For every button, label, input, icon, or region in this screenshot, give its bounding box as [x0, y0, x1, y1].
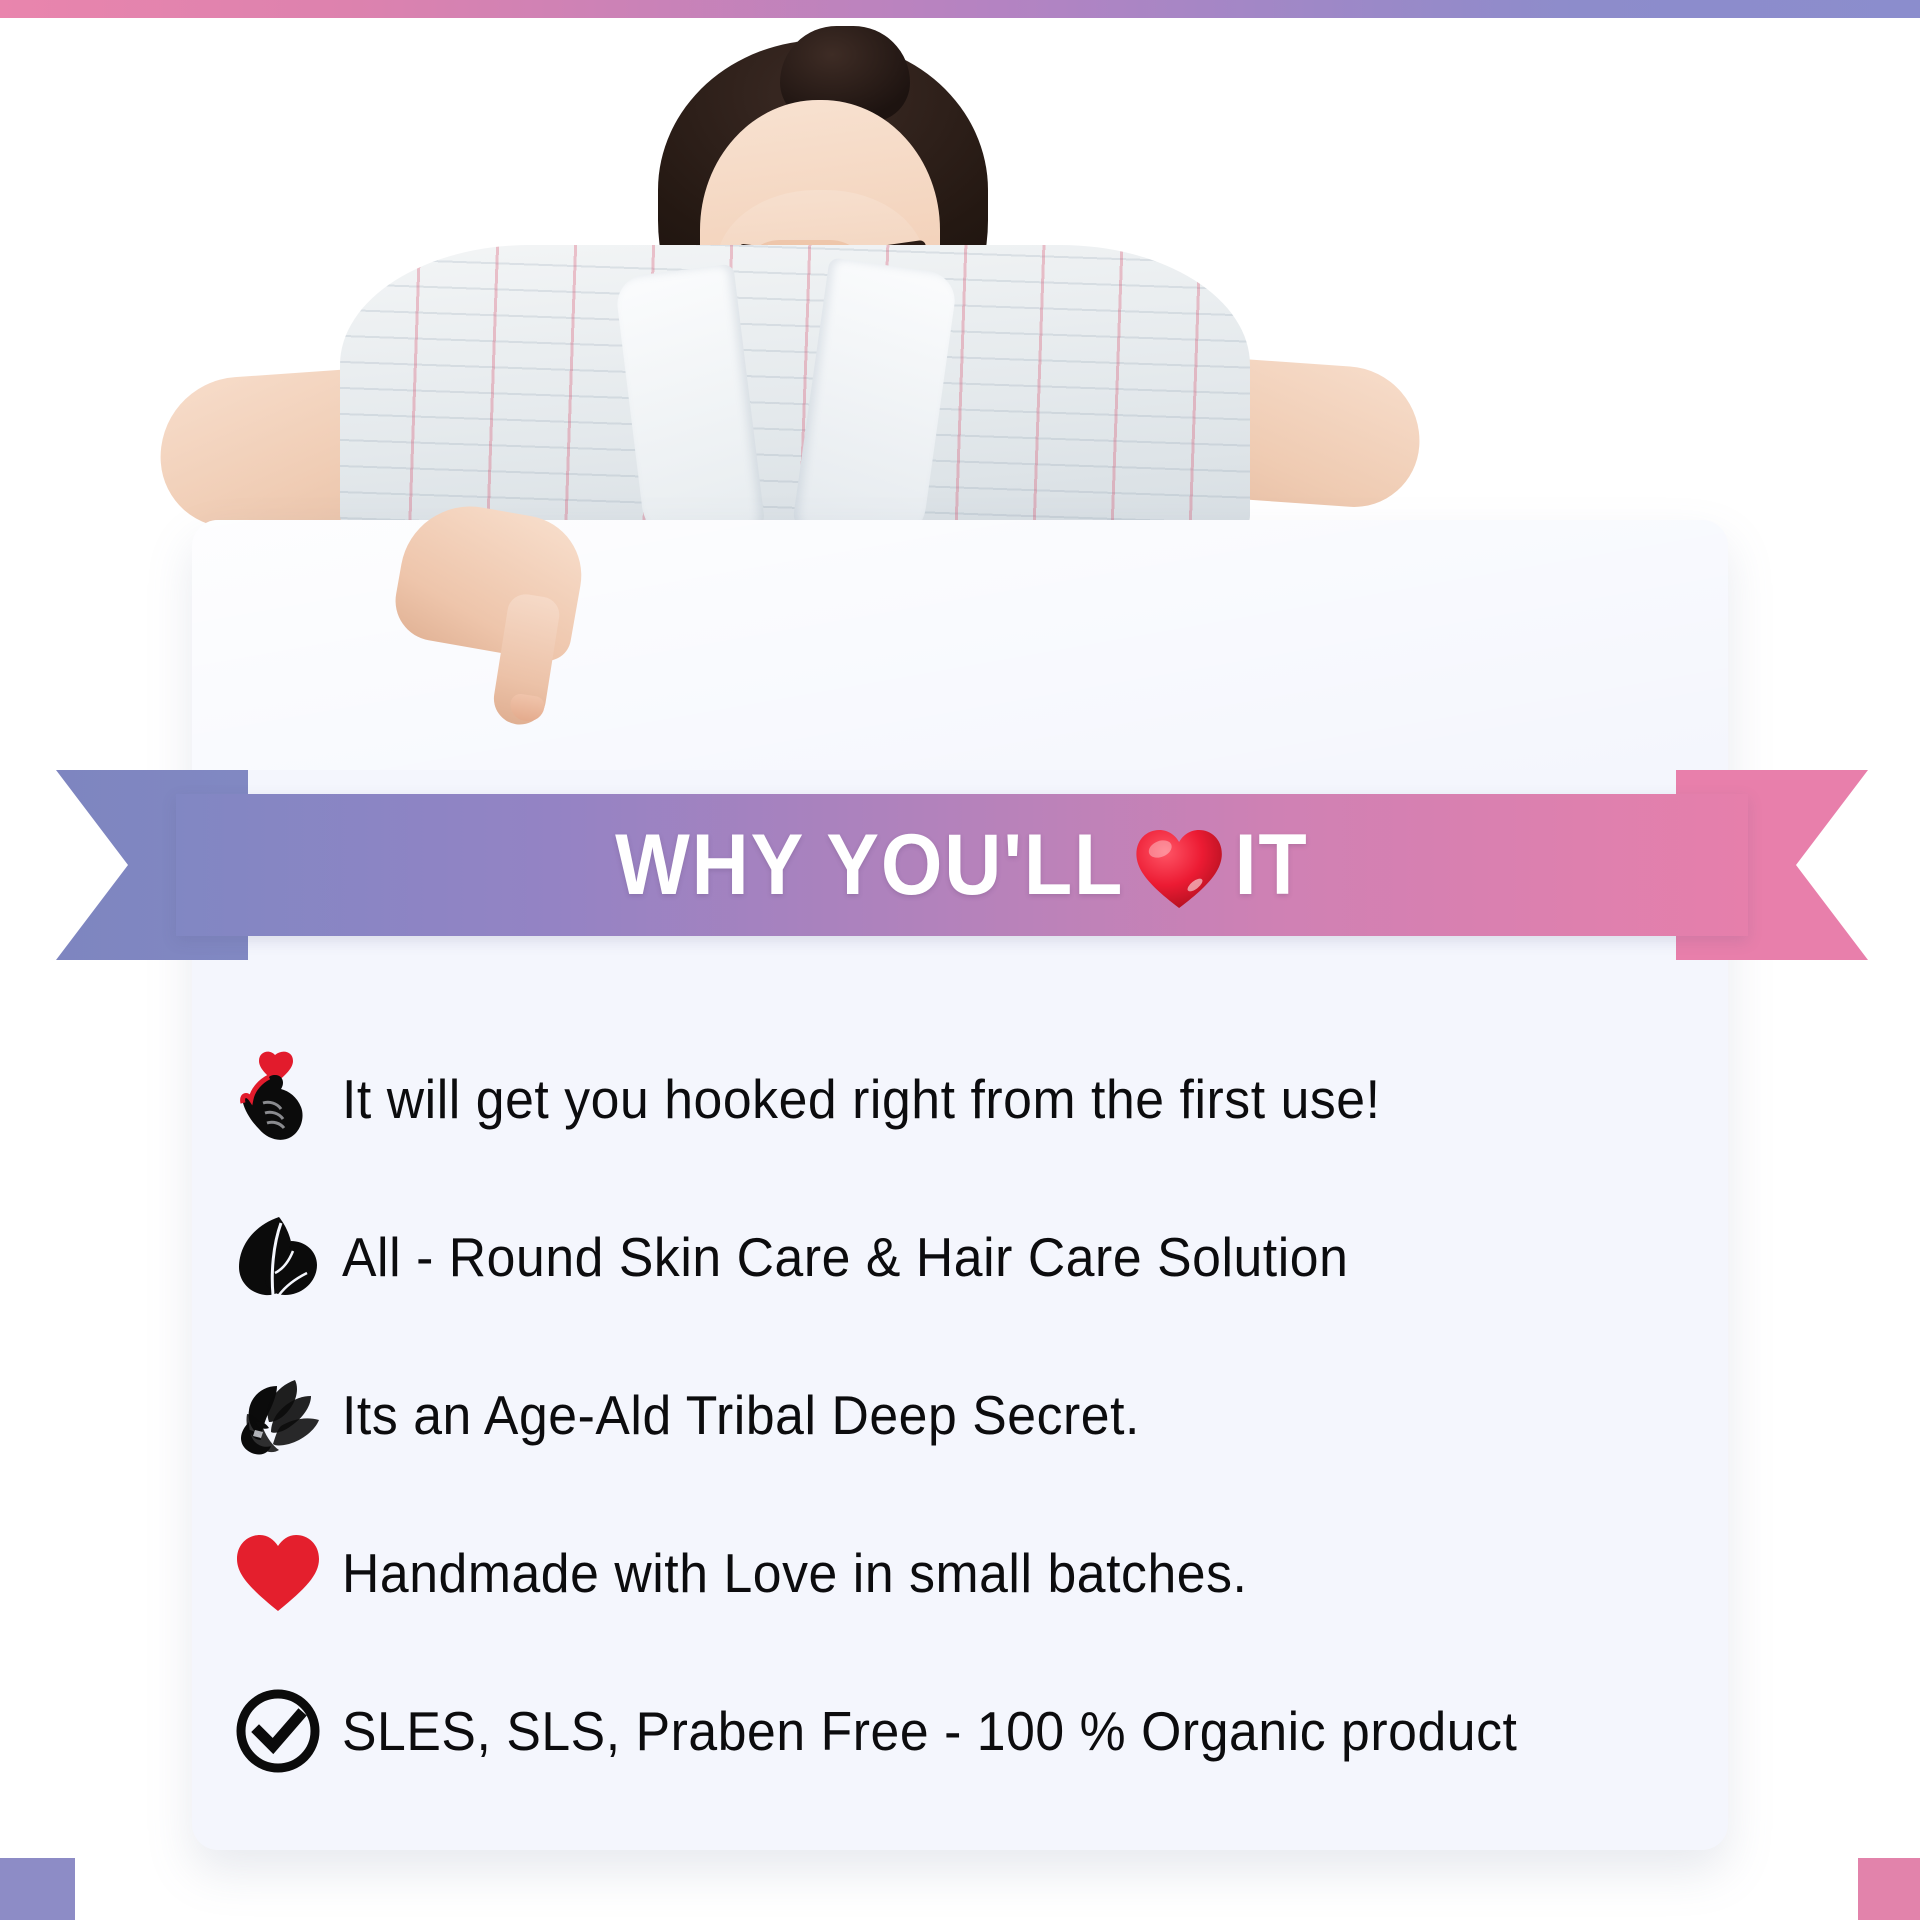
list-item-label: SLES, SLS, Praben Free - 100 % Organic p…: [342, 1699, 1517, 1763]
list-item-label: Its an Age-Ald Tribal Deep Secret.: [342, 1383, 1140, 1447]
corner-accent-bottom-right: [1858, 1858, 1920, 1920]
why-youll-love-it-ribbon: WHY YOU'LL IT: [56, 770, 1868, 960]
model-photo: [160, 40, 1440, 560]
list-item-label: Handmade with Love in small batches.: [342, 1541, 1247, 1605]
top-gradient-bar: [0, 0, 1920, 18]
tribal-chief-headdress-icon: [230, 1367, 326, 1463]
list-item: It will get you hooked right from the fi…: [230, 1020, 1690, 1178]
list-item-label: It will get you hooked right from the fi…: [342, 1067, 1381, 1131]
check-circle-icon: [230, 1683, 326, 1779]
ribbon-title: WHY YOU'LL IT: [615, 816, 1308, 915]
leaf-icon: [230, 1209, 326, 1305]
corner-accent-bottom-left: [0, 1858, 75, 1920]
list-item: Its an Age-Ald Tribal Deep Secret.: [230, 1336, 1690, 1494]
heart-icon: [1134, 827, 1225, 911]
finger-heart-icon: [230, 1051, 326, 1147]
ribbon-band: WHY YOU'LL IT: [176, 794, 1748, 936]
benefits-list: It will get you hooked right from the fi…: [230, 1020, 1690, 1810]
ribbon-title-part2: IT: [1235, 816, 1309, 915]
ribbon-title-part1: WHY YOU'LL: [615, 816, 1124, 915]
list-item-label: All - Round Skin Care & Hair Care Soluti…: [342, 1225, 1348, 1289]
list-item: Handmade with Love in small batches.: [230, 1494, 1690, 1652]
list-item: All - Round Skin Care & Hair Care Soluti…: [230, 1178, 1690, 1336]
list-item: SLES, SLS, Praben Free - 100 % Organic p…: [230, 1652, 1690, 1810]
heart-icon: [230, 1525, 326, 1621]
